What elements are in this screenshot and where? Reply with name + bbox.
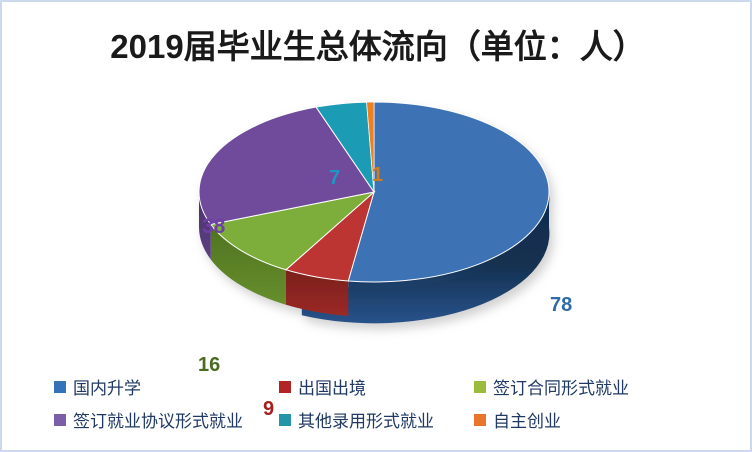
legend-item-hetong[interactable]: 签订合同形式就业 <box>474 374 629 399</box>
legend-item-chuangye[interactable]: 自主创业 <box>474 407 561 432</box>
legend-row-1: 国内升学 出国出境 签订合同形式就业 <box>54 370 714 403</box>
legend-item-xieyi[interactable]: 签订就业协议形式就业 <box>54 407 279 432</box>
chart-legend: 国内升学 出国出境 签订合同形式就业 签订就业协议形式就业 其他录用形式就业 <box>54 370 714 436</box>
chart-container: 2019届毕业生总体流向（单位：人） <box>0 0 752 452</box>
data-label-qita: 7 <box>329 168 340 188</box>
legend-item-label: 国内升学 <box>73 374 141 399</box>
legend-item-qita[interactable]: 其他录用形式就业 <box>279 407 474 432</box>
pie-chart-svg <box>2 77 752 357</box>
legend-row-2: 签订就业协议形式就业 其他录用形式就业 自主创业 <box>54 403 714 436</box>
page-title: 2019届毕业生总体流向（单位：人） <box>2 20 752 68</box>
legend-item-label: 签订就业协议形式就业 <box>73 407 243 432</box>
legend-item-chuguo[interactable]: 出国出境 <box>279 374 474 399</box>
data-label-xieyi: 38 <box>202 216 225 237</box>
data-label-chuangye: 1 <box>372 165 383 185</box>
legend-swatch-icon <box>474 414 486 426</box>
legend-item-label: 自主创业 <box>493 407 561 432</box>
legend-item-label: 其他录用形式就业 <box>298 407 434 432</box>
legend-item-guonei[interactable]: 国内升学 <box>54 374 279 399</box>
legend-swatch-icon <box>54 381 66 393</box>
legend-item-label: 出国出境 <box>298 374 366 399</box>
pie-chart-plot-area: 78 9 16 38 7 1 <box>2 77 752 357</box>
legend-swatch-icon <box>279 381 291 393</box>
pie-body <box>199 102 549 323</box>
legend-swatch-icon <box>54 414 66 426</box>
legend-swatch-icon <box>474 381 486 393</box>
data-label-guonei: 78 <box>550 295 572 315</box>
legend-swatch-icon <box>279 414 291 426</box>
legend-item-label: 签订合同形式就业 <box>493 374 629 399</box>
